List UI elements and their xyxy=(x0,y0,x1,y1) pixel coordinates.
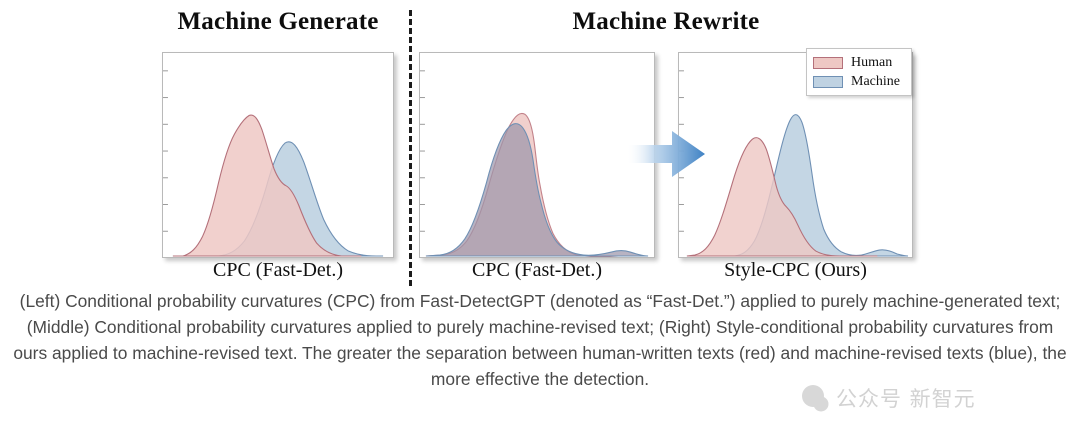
legend-item-human: Human xyxy=(813,53,906,72)
chart-panel-left xyxy=(162,52,394,258)
y-axis-ticks-middle xyxy=(420,71,425,231)
x-axis-label-left: CPC (Fast-Det.) xyxy=(162,259,394,282)
panel-title-right: Machine Rewrite xyxy=(419,8,913,36)
x-axis-label-right: Style-CPC (Ours) xyxy=(678,259,913,282)
legend-label-human: Human xyxy=(851,56,892,70)
legend-swatch-machine xyxy=(813,76,843,88)
vertical-dashed-divider xyxy=(409,10,412,286)
density-plot-left xyxy=(163,53,393,257)
figure-container: Machine Generate Machine Rewrite xyxy=(0,0,1080,446)
machine-density-area-middle xyxy=(426,124,648,256)
y-axis-ticks-left xyxy=(163,71,168,231)
x-axis-label-middle: CPC (Fast-Det.) xyxy=(419,259,655,282)
figure-caption: (Left) Conditional probability curvature… xyxy=(10,288,1070,392)
legend-item-machine: Machine xyxy=(813,72,906,91)
panel-title-left: Machine Generate xyxy=(162,8,394,36)
chart-panel-middle xyxy=(419,52,655,258)
legend-box: Human Machine xyxy=(806,48,912,96)
legend-swatch-human xyxy=(813,57,843,69)
human-density-area-left xyxy=(173,115,361,256)
density-plot-middle xyxy=(420,53,654,257)
legend-label-machine: Machine xyxy=(851,75,900,89)
rightward-flow-arrow xyxy=(628,126,706,182)
